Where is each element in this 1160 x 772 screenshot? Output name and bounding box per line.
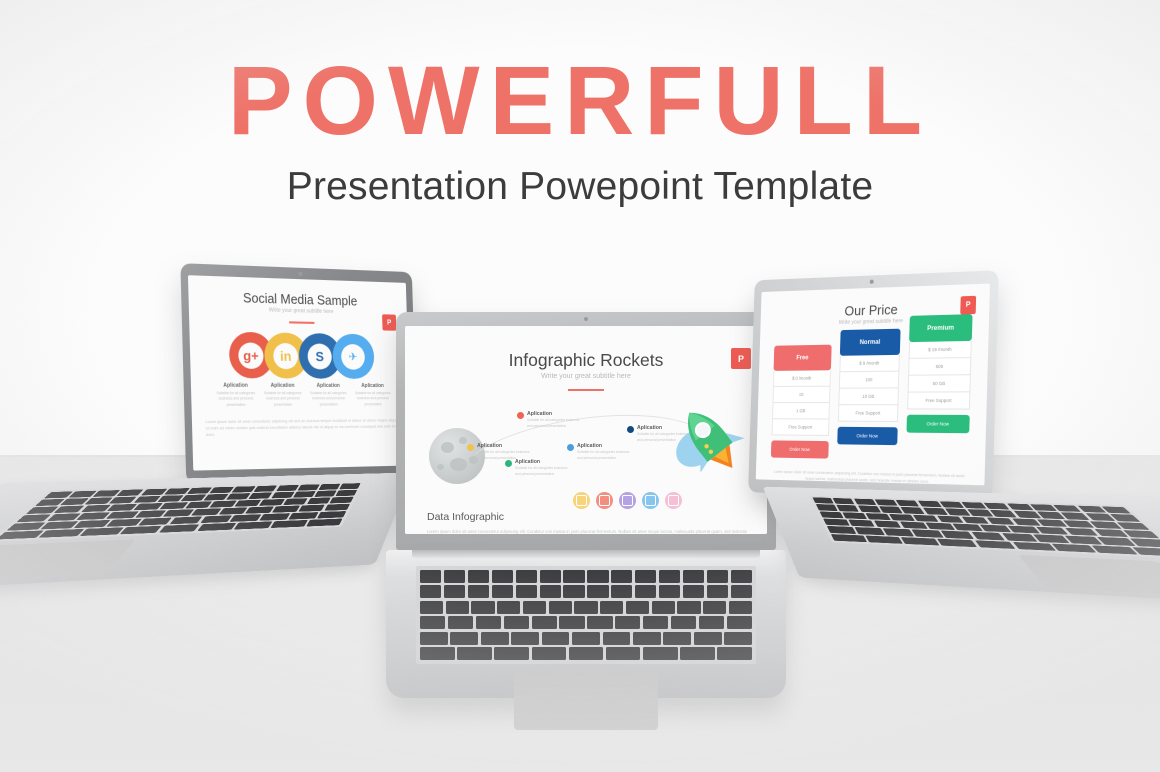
keyboard-key[interactable] xyxy=(511,632,539,645)
google-plus-glyph: g+ xyxy=(238,342,264,369)
keyboard-key[interactable] xyxy=(420,570,441,583)
keyboard-key[interactable] xyxy=(883,528,914,536)
laptop-right-base xyxy=(763,487,1160,608)
keyboard-key[interactable] xyxy=(694,632,722,645)
keyboard-key[interactable] xyxy=(540,585,561,598)
keyboard-key[interactable] xyxy=(200,515,233,523)
keyboard-key[interactable] xyxy=(307,497,331,504)
laptop-right-screen[interactable]: Our Price Write your great subtitle here… xyxy=(756,284,990,486)
plan-row: 100 xyxy=(839,372,899,389)
keyboard-key[interactable] xyxy=(563,585,584,598)
keyboard-key[interactable] xyxy=(707,570,728,583)
twitter-glyph: ✈ xyxy=(341,343,365,369)
keyboard-key[interactable] xyxy=(79,527,123,536)
keyboard-key[interactable] xyxy=(420,647,455,660)
keyboard-key[interactable] xyxy=(249,492,273,499)
keyboard-key[interactable] xyxy=(197,523,237,531)
keyboard-key[interactable] xyxy=(896,500,920,507)
keyboard-key[interactable] xyxy=(615,616,640,629)
laptop-left-lid: Social Media Sample Write your great sub… xyxy=(180,263,418,484)
keyboard-key[interactable] xyxy=(254,486,278,492)
keyboard-key[interactable] xyxy=(444,570,465,583)
plan-row: $ 19 /month xyxy=(909,341,972,359)
keyboard-key[interactable] xyxy=(865,513,890,520)
social-caption: Aplication Suitable for all categories b… xyxy=(212,382,260,408)
keyboard-key[interactable] xyxy=(420,585,441,598)
linkedin-glyph: in xyxy=(273,342,298,368)
node-dot-icon xyxy=(567,444,574,451)
keyboard-key[interactable] xyxy=(1130,539,1160,548)
node-dot-icon xyxy=(627,426,634,433)
slide-body-text: Lorem ipsum dolor sit amet consectetur a… xyxy=(770,469,968,486)
keyboard-key[interactable] xyxy=(448,616,473,629)
keyboard-key[interactable] xyxy=(106,511,139,519)
keyboard-key[interactable] xyxy=(260,513,291,521)
keyboard-key[interactable] xyxy=(230,514,262,522)
keyboard-key[interactable] xyxy=(335,490,357,496)
keyboard-key[interactable] xyxy=(481,632,509,645)
plan-row: 500 xyxy=(908,358,971,376)
laptop-center-lid: Infographic Rockets Write your great sub… xyxy=(396,312,776,550)
keyboard-key[interactable] xyxy=(603,632,631,645)
caption-heading: Aplication xyxy=(351,383,395,389)
trackpad[interactable] xyxy=(0,539,136,580)
laptop-right[interactable]: Our Price Write your great subtitle here… xyxy=(736,263,1160,675)
caption-heading: Aplication xyxy=(306,383,351,389)
keyboard-key[interactable] xyxy=(1036,527,1069,535)
keyboard-key[interactable] xyxy=(606,647,641,660)
keyboard-key[interactable] xyxy=(912,530,944,538)
keyboard-key[interactable] xyxy=(559,616,584,629)
keyboard-key[interactable] xyxy=(1002,533,1037,541)
keyboard-key[interactable] xyxy=(532,647,567,660)
slide-body-text: Lorem ipsum dolor sit amet consectetur a… xyxy=(205,417,398,438)
keyboard-key[interactable] xyxy=(937,538,977,547)
webcam-icon xyxy=(870,280,874,284)
order-button[interactable]: Order Now xyxy=(837,427,898,445)
slide-title: Infographic Rockets xyxy=(405,350,767,371)
keyboard-key[interactable] xyxy=(827,526,856,534)
keyboard-key[interactable] xyxy=(468,585,489,598)
keyboard-key[interactable] xyxy=(1132,547,1160,556)
plan-row: Free Support xyxy=(772,419,830,436)
node-heading: Aplication xyxy=(527,411,581,417)
keyboard-key[interactable] xyxy=(574,601,597,614)
keyboard-key[interactable] xyxy=(289,512,319,519)
keyboard-key[interactable] xyxy=(306,519,342,527)
order-button[interactable]: Order Now xyxy=(906,415,969,434)
caption-heading: Aplication xyxy=(212,382,260,388)
webcam-icon xyxy=(584,317,588,321)
keyboard-key[interactable] xyxy=(874,521,902,528)
chart-icon[interactable] xyxy=(573,492,590,509)
data-infographic-heading: Data Infographic xyxy=(427,511,504,523)
keyboard-key[interactable] xyxy=(271,520,308,528)
plan-row: $ 0 /month xyxy=(773,370,831,387)
keyboard-key[interactable] xyxy=(833,498,855,505)
keyboard-key[interactable] xyxy=(600,601,623,614)
keyboard-key[interactable] xyxy=(587,616,612,629)
social-caption: Aplication Suitable for all categories b… xyxy=(259,383,306,409)
laptop-center-base xyxy=(386,550,786,698)
keyboard-key[interactable] xyxy=(297,484,319,490)
keyboard-key[interactable] xyxy=(494,647,529,660)
plan-row: Free Support xyxy=(838,405,898,422)
trackpad[interactable] xyxy=(514,670,658,730)
keyboard-key[interactable] xyxy=(6,522,45,530)
social-captions: Aplication Suitable for all categories b… xyxy=(212,382,395,408)
keyboard-key[interactable] xyxy=(276,485,299,491)
keyboard-key[interactable] xyxy=(210,501,237,508)
keyboard-key[interactable] xyxy=(819,511,843,518)
keyboard-key[interactable] xyxy=(717,647,752,660)
caption-text: Suitable for all categories business and… xyxy=(212,391,260,408)
keyboard-key[interactable] xyxy=(339,483,360,489)
keyboard-key[interactable] xyxy=(0,531,44,540)
keyboard-key[interactable] xyxy=(865,535,902,543)
brand-badge: P xyxy=(382,314,396,330)
keyboard-key[interactable] xyxy=(1033,535,1069,543)
plan-name: Normal xyxy=(840,329,901,356)
keyboard-key[interactable] xyxy=(234,521,272,529)
plan-row: Free Support xyxy=(907,392,970,409)
keyboard-key[interactable] xyxy=(298,505,325,512)
keyboard-key[interactable] xyxy=(659,570,680,583)
keyboard-key[interactable] xyxy=(633,632,661,645)
keyboard-key[interactable] xyxy=(961,502,987,509)
keyboard-key[interactable] xyxy=(842,512,867,519)
keyboard-key[interactable] xyxy=(1051,543,1096,552)
keyboard-key[interactable] xyxy=(831,534,867,542)
keyboard-key[interactable] xyxy=(138,518,173,526)
page-title: POWERFULL xyxy=(0,52,1160,149)
social-caption: Aplication Suitable for all categories b… xyxy=(351,383,395,408)
plan-row: 1 GB xyxy=(772,403,830,419)
keyboard-key[interactable] xyxy=(823,519,849,526)
slide-social-media: Social Media Sample Write your great sub… xyxy=(188,275,411,470)
slide-infographic-rockets: Infographic Rockets Write your great sub… xyxy=(405,326,767,534)
keyboard-key[interactable] xyxy=(953,524,983,532)
node-dot-icon xyxy=(505,460,512,467)
keyboard-key[interactable] xyxy=(293,491,316,498)
keyboard-key[interactable] xyxy=(683,570,704,583)
social-caption: Aplication Suitable for all categories b… xyxy=(306,383,352,408)
keyboard-key[interactable] xyxy=(563,570,584,583)
keyboard-key[interactable] xyxy=(159,524,200,532)
laptop-left-screen[interactable]: Social Media Sample Write your great sub… xyxy=(188,275,411,470)
keyboard-key[interactable] xyxy=(446,601,469,614)
slide-subtitle: Write your great subtitle here xyxy=(405,373,767,380)
keyboard-key[interactable] xyxy=(587,585,608,598)
keyboard-key[interactable] xyxy=(1091,545,1137,554)
keyboard-key[interactable] xyxy=(854,499,877,506)
laptop-center[interactable]: Infographic Rockets Write your great sub… xyxy=(396,312,776,702)
keyboard-key[interactable] xyxy=(119,526,162,535)
keyboard-key[interactable] xyxy=(271,492,294,499)
title-underline xyxy=(289,321,314,324)
keyboard-key[interactable] xyxy=(635,570,656,583)
keyboard-key[interactable] xyxy=(163,509,194,516)
keyboard-key[interactable] xyxy=(1124,530,1160,538)
document-icon[interactable] xyxy=(596,492,613,509)
keyboard-key[interactable] xyxy=(549,601,572,614)
hinge xyxy=(412,550,760,558)
node-aplication-2: Aplication Suitable for all categories b… xyxy=(517,412,581,429)
keyboard-key[interactable] xyxy=(812,497,833,503)
keyboard-key[interactable] xyxy=(879,506,903,513)
keyboard-key[interactable] xyxy=(984,503,1010,510)
caption-text: Suitable for all categories business and… xyxy=(259,391,306,408)
keyboard-key[interactable] xyxy=(652,601,675,614)
keyboard-key[interactable] xyxy=(837,505,859,512)
keyboard-key[interactable] xyxy=(635,585,656,598)
plan-row: $ 9 /month xyxy=(839,355,899,372)
keyboard-key[interactable] xyxy=(444,585,465,598)
keyboard-key[interactable] xyxy=(317,511,346,518)
keyboard-key[interactable] xyxy=(492,570,513,583)
keyboard-key[interactable] xyxy=(699,616,724,629)
keyboard-key[interactable] xyxy=(816,504,838,511)
node-heading: Aplication xyxy=(515,459,569,465)
caption-text: Suitable for all categories business and… xyxy=(351,391,395,408)
caption-text: Suitable for all categories business and… xyxy=(306,391,351,408)
node-text: Suitable for all categories business and… xyxy=(515,466,569,477)
keyboard[interactable] xyxy=(416,566,756,664)
keyboard-key[interactable] xyxy=(492,585,513,598)
keyboard-key[interactable] xyxy=(40,521,78,529)
keyboard-key[interactable] xyxy=(523,601,546,614)
keyboard-key[interactable] xyxy=(980,525,1011,533)
plan-name: Free xyxy=(774,345,832,371)
keyboard-key[interactable] xyxy=(680,647,715,660)
keyboard-key[interactable] xyxy=(889,514,915,521)
node-dot-icon xyxy=(517,412,524,419)
keyboard-key[interactable] xyxy=(961,516,989,523)
keyboard-key[interactable] xyxy=(875,499,898,506)
keyboard-key[interactable] xyxy=(420,616,445,629)
keyboard-key[interactable] xyxy=(986,517,1015,524)
keyboard-key[interactable] xyxy=(468,570,489,583)
node-text: Suitable for all categories business and… xyxy=(527,418,581,429)
keyboard-key[interactable] xyxy=(901,537,940,546)
keyboard-key[interactable] xyxy=(703,601,726,614)
keyboard-key[interactable] xyxy=(611,585,632,598)
data-icon-row xyxy=(573,492,682,509)
keyboard-key[interactable] xyxy=(272,506,300,513)
keyboard-key[interactable] xyxy=(926,523,955,531)
trackpad[interactable] xyxy=(1018,555,1160,596)
keyboard-key[interactable] xyxy=(226,493,251,500)
keyboard-key[interactable] xyxy=(476,616,501,629)
page-subtitle: Presentation Powepoint Template xyxy=(0,165,1160,209)
keyboard[interactable] xyxy=(0,482,364,542)
keyboard-key[interactable] xyxy=(219,507,248,514)
keyboard-key[interactable] xyxy=(707,585,728,598)
plan-row: 10 xyxy=(773,387,831,403)
node-aplication-4: Aplication Suitable for all categories b… xyxy=(567,444,631,461)
keyboard-key[interactable] xyxy=(967,509,993,516)
rocket-icon xyxy=(667,398,751,478)
keyboard-key[interactable] xyxy=(542,632,570,645)
laptop-left[interactable]: Social Media Sample Write your great sub… xyxy=(0,256,436,666)
keyboard-key[interactable] xyxy=(38,529,84,538)
keyboard-key[interactable] xyxy=(683,585,704,598)
plan-row: 50 GB xyxy=(908,375,971,392)
laptop-right-lid: Our Price Write your great subtitle here… xyxy=(748,270,999,499)
keyboard-key[interactable] xyxy=(235,500,261,507)
title-underline xyxy=(568,389,604,391)
keyboard-key[interactable] xyxy=(457,647,492,660)
keyboard-key[interactable] xyxy=(855,527,885,535)
slide-our-price: Our Price Write your great subtitle here… xyxy=(756,284,990,486)
keyboard-key[interactable] xyxy=(73,520,110,528)
keyboard-key[interactable] xyxy=(330,497,354,504)
keyboard-key[interactable] xyxy=(939,501,964,508)
keyboard-key[interactable] xyxy=(858,506,881,513)
webcam-icon xyxy=(298,272,302,276)
hero-heading-group: POWERFULL Presentation Powepoint Templat… xyxy=(0,52,1160,209)
keyboard-key[interactable] xyxy=(516,570,537,583)
keyboard-key[interactable] xyxy=(420,601,443,614)
keyboard-key[interactable] xyxy=(917,501,941,508)
keyboard-key[interactable] xyxy=(848,520,875,527)
keyboard-key[interactable] xyxy=(990,510,1017,517)
skype-glyph: S xyxy=(307,343,332,369)
node-dot-icon xyxy=(467,444,474,451)
keyboard-key[interactable] xyxy=(314,490,336,496)
keyboard[interactable] xyxy=(809,496,1160,559)
keyboard-key[interactable] xyxy=(971,532,1005,540)
keyboard-key[interactable] xyxy=(232,486,256,492)
keyboard-key[interactable] xyxy=(540,570,561,583)
keyboard-key[interactable] xyxy=(497,601,520,614)
keyboard-key[interactable] xyxy=(1012,542,1055,551)
social-icon-row: g+ in S ✈ xyxy=(189,331,408,379)
order-button[interactable]: Order Now xyxy=(771,440,829,458)
keyboard-key[interactable] xyxy=(572,632,600,645)
keyboard-key[interactable] xyxy=(324,504,350,511)
keyboard-key[interactable] xyxy=(901,507,925,514)
pricing-card-normal[interactable]: Normal $ 9 /month 100 10 GB Free Support… xyxy=(837,329,900,445)
keyboard-key[interactable] xyxy=(912,515,939,522)
keyboard-key[interactable] xyxy=(420,632,448,645)
keyboard-key[interactable] xyxy=(259,499,285,506)
keyboard-key[interactable] xyxy=(937,516,964,523)
keyboard-key[interactable] xyxy=(1065,528,1099,536)
plan-name: Premium xyxy=(909,314,972,342)
keyboard-key[interactable] xyxy=(245,506,273,513)
keyboard-key[interactable] xyxy=(504,616,529,629)
node-aplication-3: Aplication Suitable for all categories b… xyxy=(505,460,569,477)
keyboard-key[interactable] xyxy=(159,502,187,509)
keyboard-key[interactable] xyxy=(318,484,340,490)
pricing-card-free[interactable]: Free $ 0 /month 10 1 GB Free Support Ord… xyxy=(771,345,832,459)
keyboard-key[interactable] xyxy=(677,601,700,614)
keyboard-key[interactable] xyxy=(169,516,203,524)
print-icon[interactable] xyxy=(619,492,636,509)
keyboard-key[interactable] xyxy=(283,498,308,505)
keyboard-key[interactable] xyxy=(643,616,668,629)
twitter-icon[interactable]: ✈ xyxy=(332,334,375,379)
keyboard-key[interactable] xyxy=(941,531,974,539)
keyboard-key[interactable] xyxy=(450,632,478,645)
node-text: Suitable for all categories business and… xyxy=(577,450,631,461)
keyboard-key[interactable] xyxy=(1008,526,1040,534)
keyboard-key[interactable] xyxy=(900,522,929,530)
keyboard-key[interactable] xyxy=(611,570,632,583)
data-infographic-body: Lorem ipsum dolor sit amet consectetur a… xyxy=(427,529,747,534)
laptop-center-screen[interactable]: Infographic Rockets Write your great sub… xyxy=(405,326,767,534)
brand-badge: P xyxy=(960,296,976,315)
keyboard-key[interactable] xyxy=(974,540,1016,549)
keyboard-key[interactable] xyxy=(106,519,142,527)
keyboard-key[interactable] xyxy=(659,585,680,598)
keyboard-key[interactable] xyxy=(532,616,557,629)
pricing-card-premium[interactable]: Premium $ 19 /month 500 50 GB Free Suppo… xyxy=(906,314,972,433)
node-heading: Aplication xyxy=(477,443,531,449)
plan-row: 10 GB xyxy=(838,388,898,405)
keyboard-key[interactable] xyxy=(569,647,604,660)
keyboard-key[interactable] xyxy=(471,601,494,614)
pricing-table: Free $ 0 /month 10 1 GB Free Support Ord… xyxy=(771,342,972,461)
keyboard-key[interactable] xyxy=(643,647,678,660)
keyboard-key[interactable] xyxy=(945,509,970,516)
keyboard-key[interactable] xyxy=(663,632,691,645)
keyboard-key[interactable] xyxy=(923,508,948,515)
monitor-icon[interactable] xyxy=(642,492,659,509)
keyboard-key[interactable] xyxy=(191,508,221,515)
keyboard-key[interactable] xyxy=(626,601,649,614)
caption-heading: Aplication xyxy=(259,383,305,389)
camera-icon[interactable] xyxy=(665,492,682,509)
keyboard-key[interactable] xyxy=(516,585,537,598)
keyboard-key[interactable] xyxy=(587,570,608,583)
laptop-left-base xyxy=(0,472,413,592)
node-heading: Aplication xyxy=(577,443,631,449)
keyboard-key[interactable] xyxy=(671,616,696,629)
